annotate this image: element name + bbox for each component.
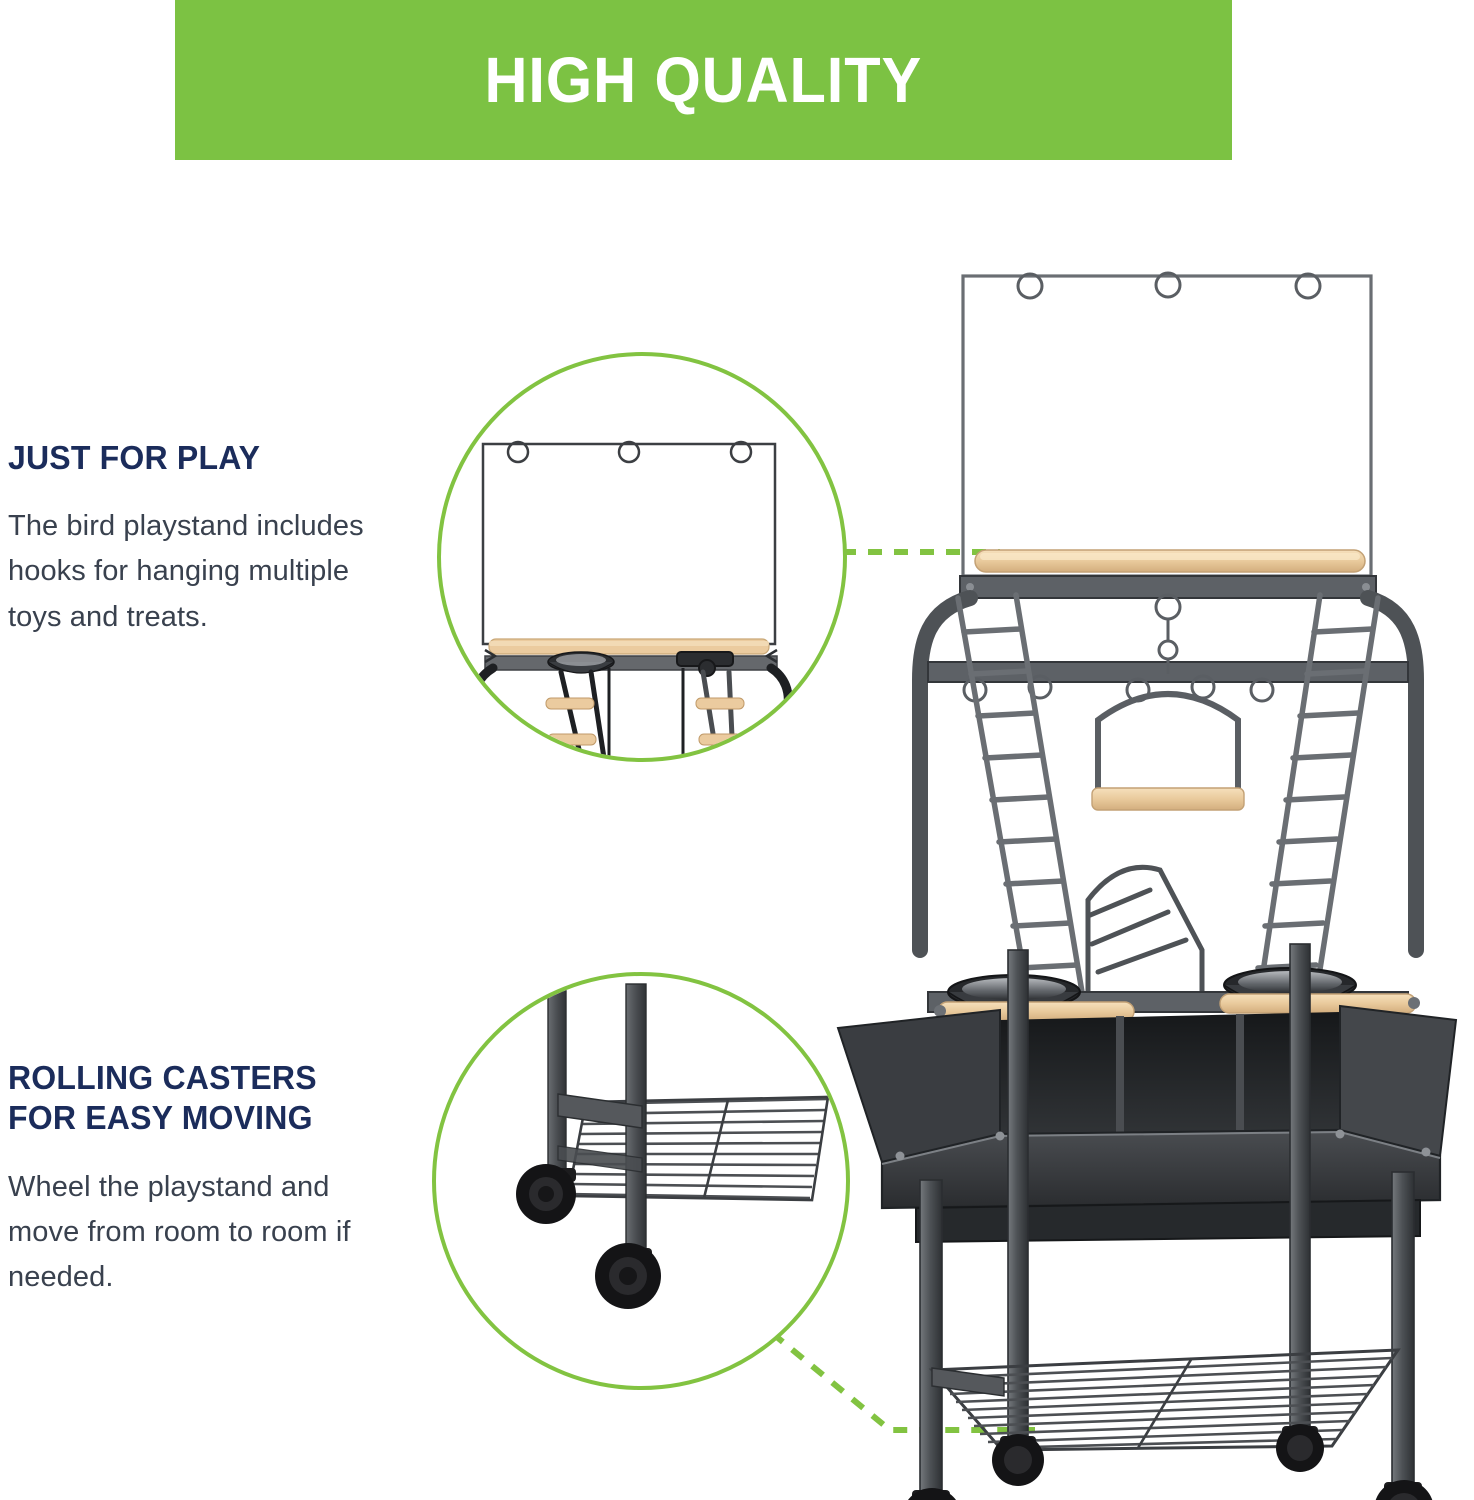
caster-wheel — [516, 1164, 576, 1224]
callout-circle-casters — [432, 972, 850, 1390]
swing-arch — [1098, 694, 1238, 795]
hanging-swing — [1092, 595, 1244, 810]
caster-wheel-rear-right — [1276, 1424, 1324, 1472]
caster-wheel-rear-left — [992, 1434, 1044, 1486]
caster-wheel-front-left — [902, 1488, 962, 1500]
right-support-arm — [1368, 598, 1416, 950]
top-wire-frame — [963, 273, 1371, 576]
shelf-center-wire — [704, 1100, 728, 1198]
leg-front-right — [1392, 1172, 1414, 1490]
left-support-arm — [920, 598, 970, 950]
left-curved-arm — [473, 668, 509, 758]
bottom-wire-shelf — [932, 1350, 1398, 1450]
leg-rear-right — [1290, 944, 1310, 1438]
feature-body-just-for-play: The bird playstand includes hooks for ha… — [8, 504, 388, 640]
caster-wheel-front-right — [1374, 1480, 1434, 1500]
callout-top-illustration — [441, 356, 843, 758]
callout-bottom-illustration — [436, 976, 846, 1386]
leg-front-left — [920, 1180, 942, 1498]
feature-heading-rolling-casters: ROLLING CASTERS FOR EASY MOVING — [8, 1058, 377, 1139]
ladder-rung-wood — [699, 734, 747, 745]
feature-heading-just-for-play: JUST FOR PLAY — [8, 438, 377, 478]
banner-title: HIGH QUALITY — [485, 43, 923, 117]
swing-wooden-seat — [1092, 788, 1244, 810]
ladder-rung-wood — [548, 734, 596, 745]
right-ladder — [1258, 595, 1378, 995]
feature-block-rolling-casters: ROLLING CASTERS FOR EASY MOVING Wheel th… — [8, 1058, 388, 1300]
header-banner: HIGH QUALITY — [175, 0, 1232, 160]
right-curved-arm — [753, 668, 788, 758]
left-ladder — [958, 595, 1082, 995]
feature-body-rolling-casters: Wheel the playstand and move from room t… — [8, 1165, 388, 1301]
lower-wooden-perch-right — [1220, 994, 1416, 1013]
product-playstand-image — [820, 250, 1474, 1500]
ladder-rung-wood — [696, 698, 744, 709]
callout-circle-top-frame — [437, 352, 847, 762]
frame-rect — [483, 444, 775, 644]
ramp-ladder — [1088, 867, 1202, 1010]
ladder-rung-wood — [546, 698, 594, 709]
caster-wheel — [595, 1243, 661, 1309]
feature-block-just-for-play: JUST FOR PLAY The bird playstand include… — [8, 438, 388, 640]
tray-inner-well — [1000, 1012, 1340, 1134]
